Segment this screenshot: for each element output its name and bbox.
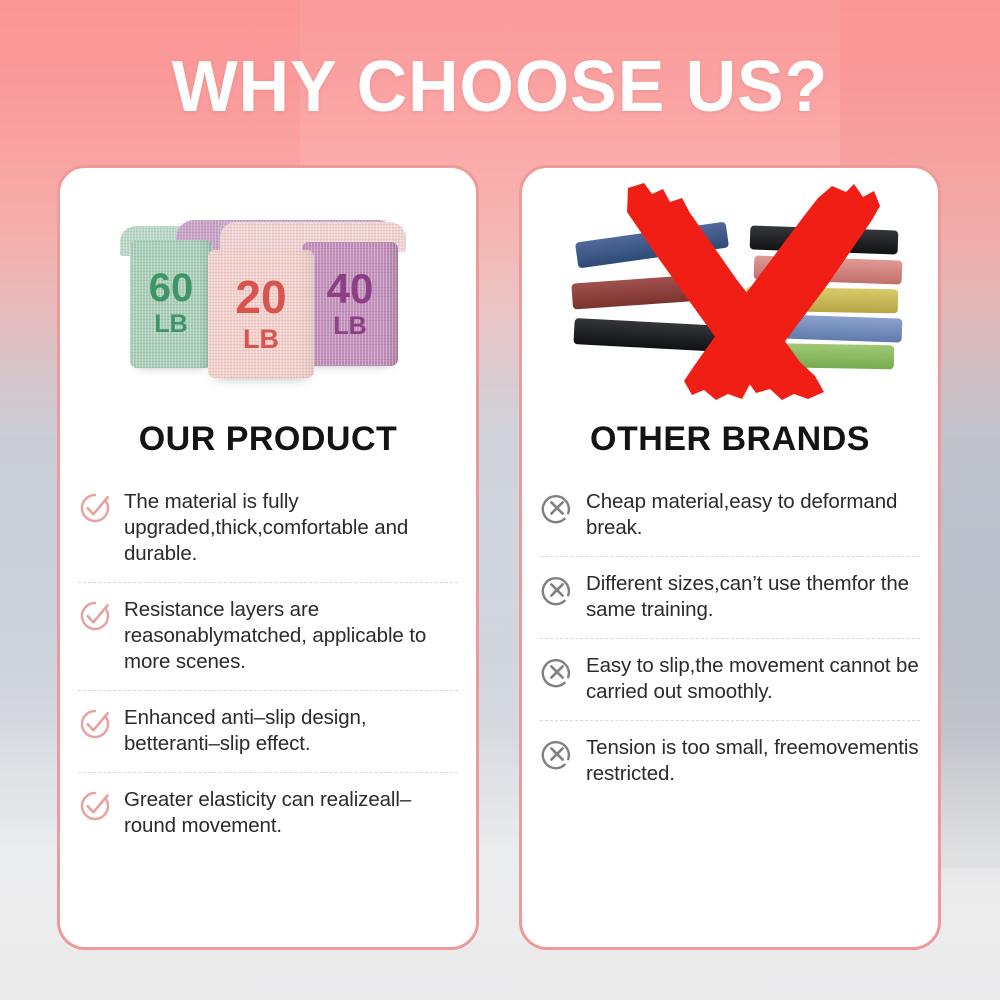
fabric-resistance-bands-photo: 60 LB 40 LB 20 LB bbox=[70, 180, 466, 408]
feature-text: Enhanced anti–slip design, betteranti–sl… bbox=[124, 705, 458, 757]
x-circle-icon bbox=[540, 737, 574, 771]
band-40lb-unit: LB bbox=[302, 314, 398, 339]
band-20lb-value: 20 bbox=[208, 274, 314, 320]
feature-text: Cheap material,easy to deformand break. bbox=[586, 489, 920, 541]
check-circle-icon bbox=[78, 789, 112, 823]
band-60lb: 60 LB bbox=[130, 240, 212, 368]
feature-item: Tension is too small, freemovementis res… bbox=[540, 720, 920, 802]
red-x-brush-stroke bbox=[532, 180, 928, 408]
infographic-page: WHY CHOOSE US? 60 LB bbox=[0, 0, 1000, 1000]
card-other-brands: OTHER BRANDS Cheap material,easy to defo… bbox=[519, 165, 941, 950]
our-product-media: 60 LB 40 LB 20 LB bbox=[70, 180, 466, 408]
band-60lb-unit: LB bbox=[130, 312, 212, 337]
check-circle-icon bbox=[78, 707, 112, 741]
latex-resistance-bands-photo bbox=[532, 180, 928, 408]
other-brands-heading: OTHER BRANDS bbox=[522, 420, 938, 459]
page-title: WHY CHOOSE US? bbox=[15, 46, 985, 128]
feature-item: Enhanced anti–slip design, betteranti–sl… bbox=[78, 690, 458, 772]
band-40lb-value: 40 bbox=[302, 268, 398, 310]
feature-item: Resistance layers are reasonablymatched,… bbox=[78, 582, 458, 690]
feature-text: Tension is too small, freemovementis res… bbox=[586, 735, 920, 787]
feature-item: The material is fully upgraded,thick,com… bbox=[78, 475, 458, 582]
feature-item: Greater elasticity can realizeall–round … bbox=[78, 772, 458, 854]
x-circle-icon bbox=[540, 491, 574, 525]
feature-text: Resistance layers are reasonablymatched,… bbox=[124, 597, 458, 675]
our-product-feature-list: The material is fully upgraded,thick,com… bbox=[78, 475, 458, 854]
feature-text: Greater elasticity can realizeall–round … bbox=[124, 787, 458, 839]
band-20lb: 20 LB bbox=[208, 250, 314, 378]
check-circle-icon bbox=[78, 599, 112, 633]
feature-text: Different sizes,can’t use themfor the sa… bbox=[586, 571, 920, 623]
other-brands-media bbox=[532, 180, 928, 408]
x-circle-icon bbox=[540, 573, 574, 607]
other-brands-feature-list: Cheap material,easy to deformand break. … bbox=[540, 475, 920, 802]
feature-item: Different sizes,can’t use themfor the sa… bbox=[540, 556, 920, 638]
band-40lb: 40 LB bbox=[302, 242, 398, 366]
feature-text: Easy to slip,the movement cannot be carr… bbox=[586, 653, 920, 705]
band-60lb-value: 60 bbox=[130, 268, 212, 308]
our-product-heading: OUR PRODUCT bbox=[60, 420, 476, 459]
x-circle-icon bbox=[540, 655, 574, 689]
check-circle-icon bbox=[78, 491, 112, 525]
card-our-product: 60 LB 40 LB 20 LB OUR PRODUCT bbox=[57, 165, 479, 950]
feature-text: The material is fully upgraded,thick,com… bbox=[124, 489, 458, 567]
feature-item: Cheap material,easy to deformand break. bbox=[540, 475, 920, 556]
band-20lb-unit: LB bbox=[208, 326, 314, 353]
feature-item: Easy to slip,the movement cannot be carr… bbox=[540, 638, 920, 720]
